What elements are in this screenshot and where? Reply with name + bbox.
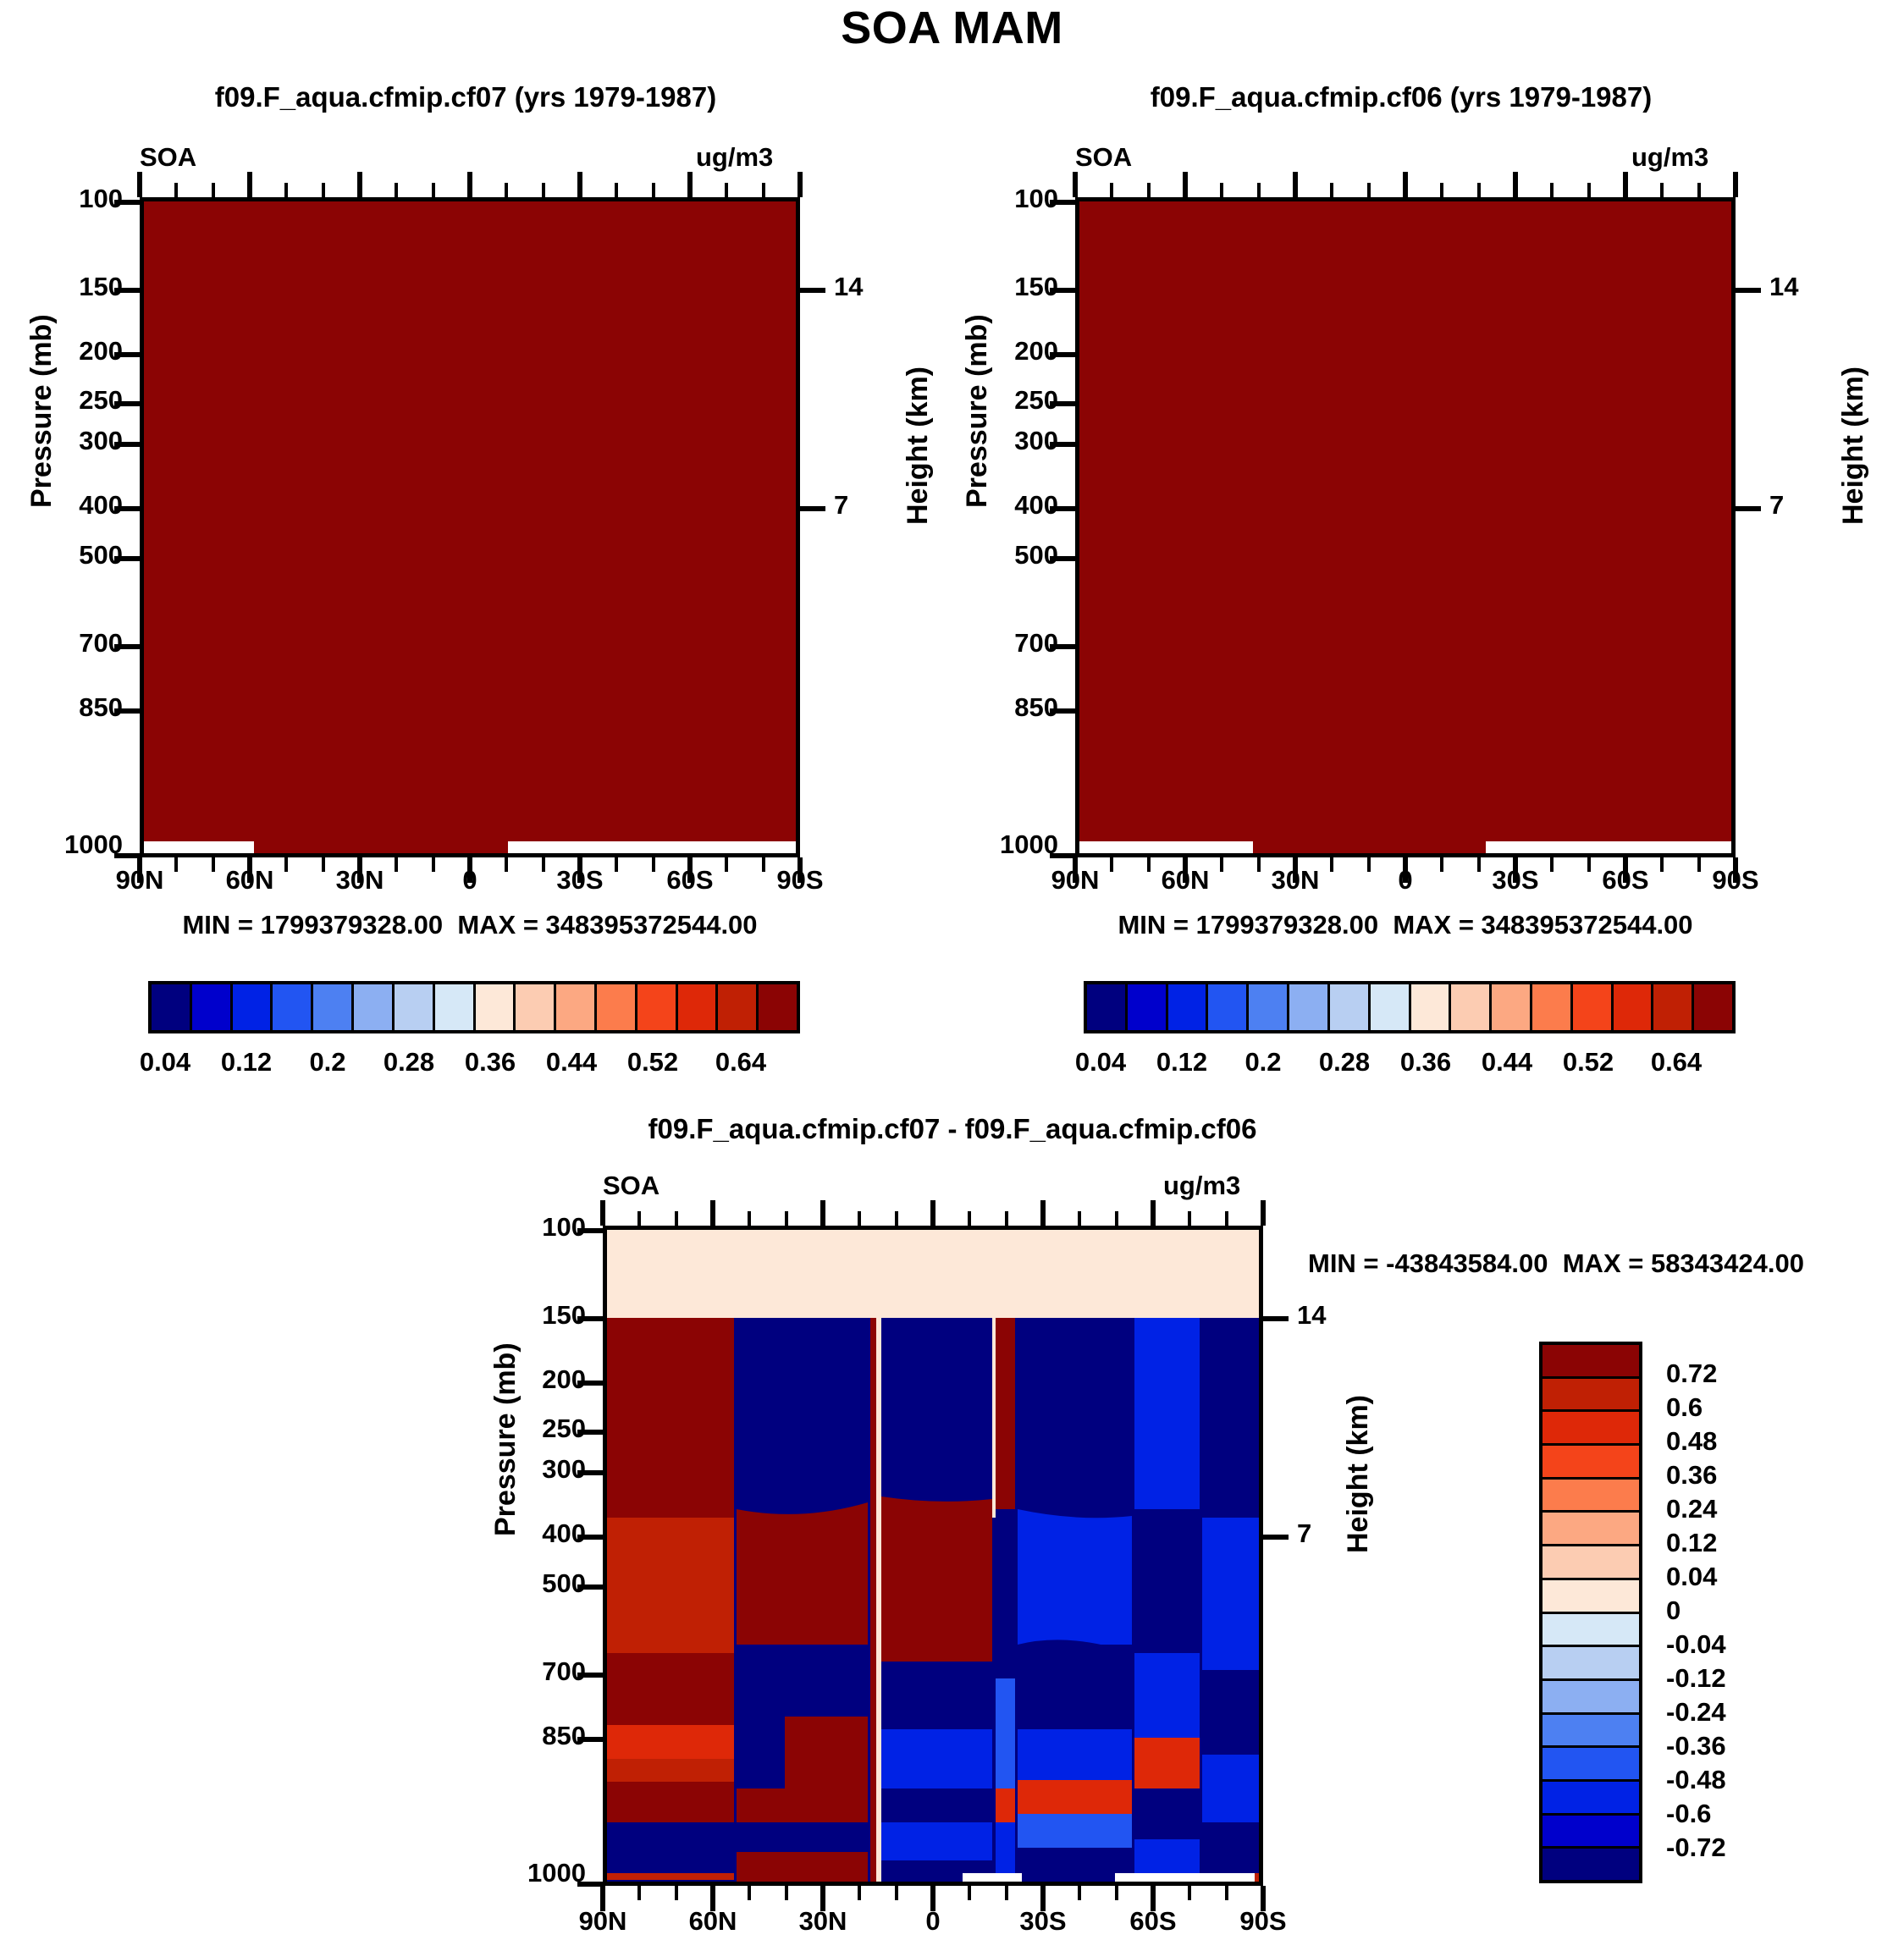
x-minor-tick [1477, 857, 1481, 872]
x-tick [1733, 172, 1738, 197]
min-value: MIN = -43843584.00 [1308, 1248, 1548, 1278]
y-tick [577, 1737, 604, 1742]
x-minor-tick [675, 1211, 678, 1226]
x-minor-tick [858, 1211, 861, 1226]
legend-label: 0 [1666, 1596, 1680, 1626]
legend-label: 0.36 [1666, 1460, 1717, 1491]
legend-cell-15 [1543, 1849, 1639, 1880]
legend-cell-12 [1543, 1748, 1639, 1782]
x-tick [687, 857, 693, 883]
x-minor-tick [637, 1886, 641, 1900]
colorbar-cell-14 [1653, 984, 1694, 1030]
y2-tick [1261, 1535, 1289, 1540]
y-tick [114, 506, 141, 511]
colorbar-label: 0.36 [444, 1047, 537, 1077]
legend-cell-4 [1543, 1480, 1639, 1513]
legend-cell-0 [1543, 1345, 1639, 1379]
x-minor-tick [615, 857, 618, 872]
x-minor-tick [1330, 857, 1333, 872]
y-tick [1050, 556, 1077, 561]
x-minor-tick [1440, 183, 1443, 197]
colorbar-cell-2 [233, 984, 273, 1030]
colorbar-cell-8 [1411, 984, 1452, 1030]
y-tick [114, 644, 141, 649]
x-tick [1151, 1886, 1156, 1911]
colorbar-cell-11 [597, 984, 637, 1030]
x-minor-tick [725, 183, 728, 197]
x-minor-tick [395, 857, 398, 872]
x-tick [1623, 172, 1628, 197]
y-tick-label: 200 [8, 336, 123, 367]
x-minor-tick [284, 857, 288, 872]
panel-title: f09.F_aqua.cfmip.cf07 (yrs 1979-1987) [8, 81, 923, 113]
x-minor-tick [1220, 183, 1223, 197]
x-minor-tick [1115, 1886, 1118, 1900]
colorbar-cell-5 [1289, 984, 1330, 1030]
x-minor-tick [1330, 183, 1333, 197]
y-tick-label: 700 [944, 628, 1058, 659]
colorbar-label: 0.36 [1379, 1047, 1472, 1077]
colorbar-label: 0.52 [1542, 1047, 1635, 1077]
x-minor-tick [675, 1886, 678, 1900]
x-tick [1403, 172, 1408, 197]
y-tick-label: 100 [8, 184, 123, 214]
panel-title: f09.F_aqua.cfmip.cf07 - f09.F_aqua.cfmip… [487, 1113, 1418, 1145]
y-tick [114, 401, 141, 406]
colorbar [1084, 981, 1736, 1033]
colorbar-label: 0.44 [525, 1047, 618, 1077]
legend-label: -0.24 [1666, 1697, 1726, 1728]
x-tick [1151, 1200, 1156, 1226]
y-tick-label: 500 [944, 540, 1058, 570]
y-tick-label: 850 [944, 692, 1058, 723]
contour-plot-area [1075, 197, 1736, 857]
colorbar-cell-8 [476, 984, 516, 1030]
y-tick-label: 700 [472, 1656, 586, 1687]
colorbar-label: 0.12 [1135, 1047, 1228, 1077]
y-tick [577, 1316, 604, 1321]
legend-cell-9 [1543, 1647, 1639, 1681]
colorbar [148, 981, 800, 1033]
y-tick [114, 288, 141, 293]
y-tick [1050, 644, 1077, 649]
x-minor-tick [1188, 1211, 1191, 1226]
y-tick-label: 150 [944, 272, 1058, 302]
colorbar-cell-4 [313, 984, 354, 1030]
colorbar-label: 0.12 [200, 1047, 293, 1077]
y-tick [114, 442, 141, 447]
y2-tick-label: 14 [1297, 1300, 1326, 1331]
colorbar-cell-13 [678, 984, 719, 1030]
y-tick-label: 500 [472, 1568, 586, 1599]
y2-tick [798, 288, 825, 293]
x-minor-tick [1550, 857, 1554, 872]
x-tick [1293, 172, 1298, 197]
x-minor-tick [505, 857, 508, 872]
colorbar-cell-9 [516, 984, 556, 1030]
y-tick [577, 1381, 604, 1386]
legend-cell-2 [1543, 1412, 1639, 1446]
y2-tick [798, 506, 825, 511]
x-minor-tick [895, 1211, 898, 1226]
colorbar-cell-3 [273, 984, 313, 1030]
x-minor-tick [1367, 857, 1371, 872]
y-tick-label: 250 [8, 385, 123, 416]
colorbar-label: 0.2 [1217, 1047, 1310, 1077]
x-tick [467, 172, 472, 197]
y-tick [577, 1535, 604, 1540]
x-tick [137, 172, 142, 197]
x-tick [1073, 857, 1078, 883]
colorbar-cell-14 [718, 984, 759, 1030]
x-minor-tick [858, 1886, 861, 1900]
colorbar-cell-13 [1614, 984, 1654, 1030]
x-tick [577, 857, 582, 883]
y-tick [577, 1430, 604, 1435]
legend-cell-5 [1543, 1513, 1639, 1546]
colorbar-cell-0 [152, 984, 192, 1030]
y-tick-label: 1000 [935, 829, 1058, 860]
x-minor-tick [1587, 183, 1591, 197]
x-minor-tick [174, 857, 178, 872]
legend-label: 0.6 [1666, 1392, 1703, 1423]
legend-label: -0.72 [1666, 1833, 1726, 1863]
colorbar-cell-3 [1208, 984, 1249, 1030]
x-minor-tick [1697, 857, 1701, 872]
legend-cell-1 [1543, 1379, 1639, 1413]
legend-label: 0.48 [1666, 1426, 1717, 1457]
field-gap [1115, 1873, 1255, 1882]
y-tick [1050, 288, 1077, 293]
y-tick-label: 400 [472, 1518, 586, 1549]
y2-axis-title: Height (km) [1837, 367, 1870, 525]
y-tick-label: 400 [944, 490, 1058, 521]
legend-cell-7 [1543, 1580, 1639, 1614]
units-label: ug/m3 [1631, 142, 1708, 173]
colorbar-label: 0.04 [1054, 1047, 1147, 1077]
y-tick-label: 100 [472, 1212, 586, 1243]
x-minor-tick [212, 183, 215, 197]
x-tick [1513, 857, 1518, 883]
colorbar-cell-2 [1168, 984, 1209, 1030]
max-value: MAX = 58343424.00 [1563, 1248, 1804, 1278]
field-gap [1079, 841, 1253, 853]
y2-tick-label: 14 [1769, 272, 1798, 302]
variable-label: SOA [603, 1171, 660, 1201]
x-minor-tick [1147, 183, 1151, 197]
y-tick-label: 500 [8, 540, 123, 570]
x-tick [797, 857, 803, 883]
colorbar-cell-0 [1087, 984, 1128, 1030]
legend-cell-10 [1543, 1681, 1639, 1715]
x-tick [577, 172, 582, 197]
x-tick [687, 172, 693, 197]
colorbar-cell-7 [435, 984, 476, 1030]
x-minor-tick [1005, 1211, 1008, 1226]
y-tick [577, 1585, 604, 1590]
legend-cell-8 [1543, 1614, 1639, 1648]
y-tick-label: 850 [472, 1721, 586, 1751]
x-minor-tick [542, 857, 545, 872]
colorbar-cell-12 [637, 984, 678, 1030]
colorbar-cell-6 [395, 984, 435, 1030]
y2-axis-title: Height (km) [1342, 1395, 1375, 1553]
y-tick-label: 200 [944, 336, 1058, 367]
x-tick [357, 172, 362, 197]
x-minor-tick [1550, 183, 1554, 197]
x-tick [820, 1200, 825, 1226]
legend-label: 0.72 [1666, 1359, 1717, 1389]
x-minor-tick [1220, 857, 1223, 872]
x-minor-tick [652, 857, 655, 872]
x-minor-tick [895, 1886, 898, 1900]
x-minor-tick [1440, 857, 1443, 872]
x-tick [797, 172, 803, 197]
x-tick [1183, 857, 1188, 883]
max-value: MAX = 348395372544.00 [457, 910, 757, 940]
x-tick [600, 1200, 605, 1226]
y2-tick-label: 7 [1297, 1518, 1311, 1549]
legend-cell-13 [1543, 1782, 1639, 1816]
x-minor-tick [652, 183, 655, 197]
x-minor-tick [725, 857, 728, 872]
x-minor-tick [1660, 857, 1664, 872]
x-minor-tick [1697, 183, 1701, 197]
x-minor-tick [762, 857, 765, 872]
legend-label: -0.12 [1666, 1663, 1726, 1694]
colorbar-cell-1 [192, 984, 233, 1030]
x-minor-tick [1005, 1886, 1008, 1900]
colorbar-cell-5 [354, 984, 395, 1030]
x-minor-tick [748, 1886, 751, 1900]
y-tick [577, 1228, 604, 1233]
legend-label: -0.6 [1666, 1799, 1711, 1829]
x-minor-tick [395, 183, 398, 197]
x-tick [1040, 1200, 1046, 1226]
x-tick [247, 857, 252, 883]
page-title: SOA MAM [0, 2, 1904, 54]
colorbar-cell-15 [759, 984, 797, 1030]
x-minor-tick [1367, 183, 1371, 197]
y-tick [114, 200, 141, 205]
min-value: MIN = 1799379328.00 [182, 910, 443, 940]
colorbar-label: 0.64 [694, 1047, 787, 1077]
y2-tick [1734, 288, 1761, 293]
x-tick [1040, 1886, 1046, 1911]
colorbar-cell-6 [1330, 984, 1371, 1030]
x-tick [1623, 857, 1628, 883]
y-tick [1050, 200, 1077, 205]
y-tick-label: 250 [472, 1414, 586, 1444]
colorbar-cell-10 [1492, 984, 1532, 1030]
x-minor-tick [968, 1211, 971, 1226]
colorbar-cell-9 [1451, 984, 1492, 1030]
x-minor-tick [322, 183, 325, 197]
y-tick [577, 1673, 604, 1678]
units-label: ug/m3 [1163, 1171, 1240, 1201]
y2-tick-label: 14 [834, 272, 863, 302]
y2-tick-label: 7 [1769, 490, 1784, 521]
x-tick [1513, 172, 1518, 197]
y-tick-label: 1000 [463, 1858, 586, 1888]
x-minor-tick [748, 1211, 751, 1226]
x-minor-tick [174, 183, 178, 197]
colorbar-label: 0.64 [1630, 1047, 1723, 1077]
y-tick [114, 708, 141, 714]
colorbar-label: 0.28 [1298, 1047, 1391, 1077]
x-minor-tick [1477, 183, 1481, 197]
colorbar-cell-10 [556, 984, 597, 1030]
colorbar-label: 0.52 [606, 1047, 699, 1077]
y-tick [1050, 442, 1077, 447]
colorbar-label: 0.28 [362, 1047, 455, 1077]
x-minor-tick [1225, 1886, 1228, 1900]
x-minor-tick [615, 183, 618, 197]
y2-tick [1734, 506, 1761, 511]
colorbar-cell-7 [1371, 984, 1411, 1030]
x-minor-tick [1078, 1886, 1081, 1900]
colorbar-label: 0.44 [1460, 1047, 1554, 1077]
contour-plot-area [140, 197, 800, 857]
legend-label: -0.36 [1666, 1731, 1726, 1761]
y2-axis-title: Height (km) [902, 367, 935, 525]
legend-label: 0.12 [1666, 1528, 1717, 1558]
x-minor-tick [432, 857, 435, 872]
x-tick [137, 857, 142, 883]
field-gap [1486, 841, 1736, 853]
field-gap [144, 841, 254, 853]
y-tick [1050, 401, 1077, 406]
x-minor-tick [785, 1886, 788, 1900]
x-tick [1293, 857, 1298, 883]
y-tick-label: 1000 [0, 829, 123, 860]
legend-label: -0.48 [1666, 1765, 1726, 1795]
colorbar-cell-11 [1532, 984, 1573, 1030]
x-minor-tick [542, 183, 545, 197]
x-minor-tick [1188, 1886, 1191, 1900]
y-tick-label: 200 [472, 1364, 586, 1395]
x-minor-tick [505, 183, 508, 197]
legend-cell-14 [1543, 1816, 1639, 1849]
y-tick-label: 400 [8, 490, 123, 521]
x-tick [1261, 1886, 1266, 1911]
x-tick [600, 1886, 605, 1911]
panel-title: f09.F_aqua.cfmip.cf06 (yrs 1979-1987) [944, 81, 1858, 113]
field-fill [144, 201, 796, 853]
colorbar-label: 0.04 [119, 1047, 212, 1077]
x-minor-tick [1078, 1211, 1081, 1226]
x-minor-tick [1147, 857, 1151, 872]
y-tick-label: 300 [472, 1454, 586, 1485]
contour-plot-area [603, 1226, 1263, 1886]
y-tick [114, 556, 141, 561]
legend-label: 0.04 [1666, 1562, 1717, 1592]
x-minor-tick [432, 183, 435, 197]
legend-label: -0.04 [1666, 1629, 1726, 1660]
y-tick-label: 300 [944, 426, 1058, 456]
x-tick [467, 857, 472, 883]
x-tick [1183, 172, 1188, 197]
y-tick [114, 352, 141, 357]
variable-label: SOA [1075, 142, 1132, 173]
field-fill [1079, 201, 1731, 853]
x-tick [1261, 1200, 1266, 1226]
y-tick [577, 1470, 604, 1475]
x-minor-tick [762, 183, 765, 197]
x-tick [930, 1200, 935, 1226]
variable-label: SOA [140, 142, 196, 173]
max-value: MAX = 348395372544.00 [1393, 910, 1692, 940]
difference-contour-field [607, 1230, 1261, 1883]
y-tick [1050, 506, 1077, 511]
legend-colorbar [1539, 1342, 1642, 1883]
x-minor-tick [637, 1211, 641, 1226]
y2-tick [1261, 1316, 1289, 1321]
colorbar-cell-1 [1128, 984, 1168, 1030]
x-tick [710, 1200, 715, 1226]
y-tick [1050, 352, 1077, 357]
min-value: MIN = 1799379328.00 [1118, 910, 1378, 940]
y-tick-label: 300 [8, 426, 123, 456]
field-gap [508, 841, 800, 853]
x-tick [930, 1886, 935, 1911]
x-tick [247, 172, 252, 197]
y-tick-label: 100 [944, 184, 1058, 214]
x-minor-tick [1257, 857, 1261, 872]
y-tick [1050, 708, 1077, 714]
x-minor-tick [322, 857, 325, 872]
x-minor-tick [1587, 857, 1591, 872]
y-tick-label: 150 [472, 1300, 586, 1331]
legend-label: 0.24 [1666, 1494, 1717, 1524]
x-minor-tick [1110, 857, 1113, 872]
legend-cell-6 [1543, 1546, 1639, 1580]
colorbar-cell-12 [1573, 984, 1614, 1030]
x-minor-tick [212, 857, 215, 872]
colorbar-cell-4 [1249, 984, 1289, 1030]
x-tick [357, 857, 362, 883]
x-minor-tick [284, 183, 288, 197]
y-tick-label: 150 [8, 272, 123, 302]
y2-tick-label: 7 [834, 490, 848, 521]
legend-cell-3 [1543, 1446, 1639, 1480]
x-minor-tick [785, 1211, 788, 1226]
x-tick [1403, 857, 1408, 883]
y-tick-label: 700 [8, 628, 123, 659]
colorbar-label: 0.2 [281, 1047, 374, 1077]
x-tick [820, 1886, 825, 1911]
x-tick [710, 1886, 715, 1911]
legend-cell-11 [1543, 1715, 1639, 1749]
colorbar-cell-15 [1694, 984, 1732, 1030]
x-minor-tick [1660, 183, 1664, 197]
x-tick [1073, 172, 1078, 197]
units-label: ug/m3 [696, 142, 773, 173]
x-minor-tick [1110, 183, 1113, 197]
x-tick [1733, 857, 1738, 883]
x-minor-tick [1225, 1211, 1228, 1226]
y-tick-label: 850 [8, 692, 123, 723]
x-minor-tick [1115, 1211, 1118, 1226]
x-minor-tick [1257, 183, 1261, 197]
y-tick-label: 250 [944, 385, 1058, 416]
field-gap [963, 1873, 1022, 1882]
x-minor-tick [968, 1886, 971, 1900]
